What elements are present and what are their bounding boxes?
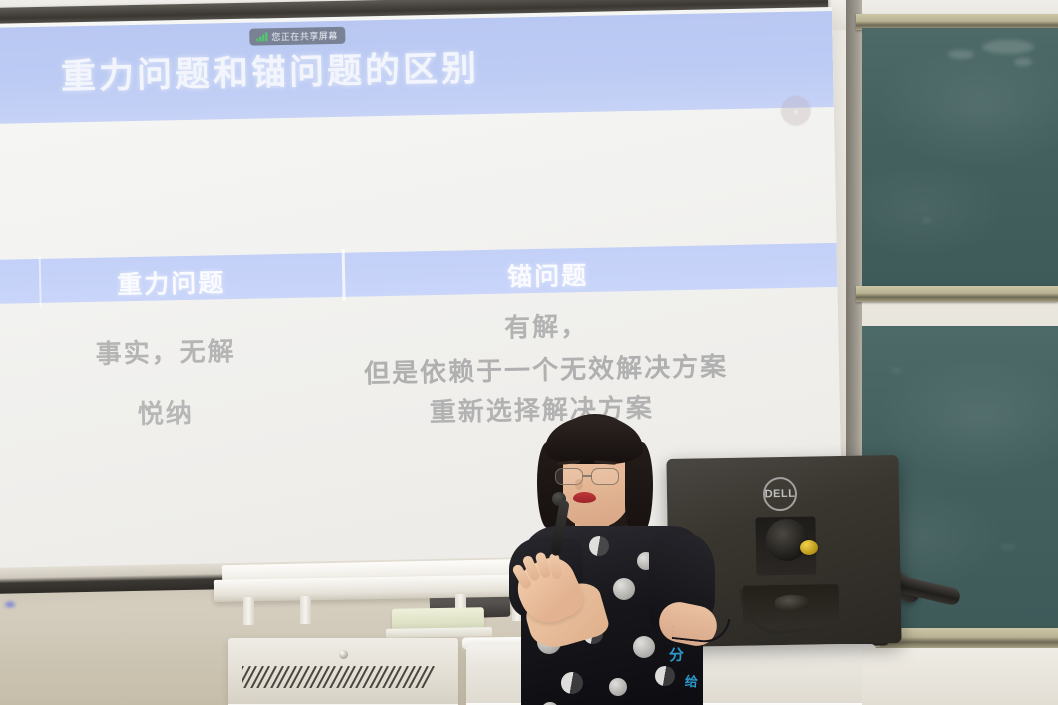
lectern-cabinet bbox=[228, 638, 458, 705]
chevron-left-icon: ‹ bbox=[794, 103, 799, 118]
chalkboard-rail-middle bbox=[856, 286, 1058, 302]
slide-title: 重力问题和锚问题的区别 bbox=[61, 40, 480, 99]
nose bbox=[575, 479, 583, 490]
dell-logo: DELL bbox=[763, 477, 798, 512]
anchor-line-1: 有解， bbox=[504, 306, 589, 345]
share-badge-label: 您正在共享屏幕 bbox=[271, 29, 338, 43]
dress-print-character: 给 bbox=[684, 671, 698, 691]
dress-print-character: 分 bbox=[668, 644, 684, 666]
screen-share-badge: 您正在共享屏幕 bbox=[249, 27, 345, 46]
presenter: 初心意朋分给 bbox=[497, 408, 717, 705]
document-tray-lip bbox=[386, 627, 492, 638]
glasses-bridge bbox=[583, 475, 592, 477]
hair-fringe bbox=[545, 416, 643, 464]
column-header-gravity: 重力问题 bbox=[117, 263, 226, 301]
moon-print bbox=[561, 672, 583, 694]
arm-tension-knob[interactable] bbox=[800, 540, 818, 555]
lectern-post bbox=[243, 597, 254, 625]
gravity-line-2: 悦纳 bbox=[137, 393, 194, 431]
column-header-anchor: 锚问题 bbox=[507, 256, 589, 294]
glasses-lens-right bbox=[591, 468, 619, 485]
moon-print bbox=[655, 666, 675, 686]
projector-indicator-led bbox=[3, 600, 17, 609]
moon-print bbox=[613, 578, 635, 600]
gravity-line-1: 事实，无解 bbox=[95, 331, 236, 371]
chalkboard-panel-upper bbox=[862, 28, 1058, 286]
moon-print bbox=[589, 536, 609, 556]
signal-bars-icon bbox=[256, 32, 267, 41]
cabinet-lock-icon[interactable] bbox=[339, 650, 348, 659]
cabinet-vent-slots bbox=[242, 666, 442, 688]
lips bbox=[573, 492, 596, 503]
podium-side-surface bbox=[862, 648, 1058, 705]
anchor-line-2: 但是依赖于一个无效解决方案 bbox=[364, 346, 729, 390]
moon-print bbox=[633, 636, 655, 658]
lectern-post bbox=[300, 596, 311, 624]
moon-print bbox=[609, 678, 627, 696]
classroom-scene: 重力问题和锚问题的区别 您正在共享屏幕 ‹ 重力问题 锚问题 事实，无解 悦纳 … bbox=[0, 0, 1058, 705]
slide-prev-button[interactable]: ‹ bbox=[781, 95, 812, 126]
